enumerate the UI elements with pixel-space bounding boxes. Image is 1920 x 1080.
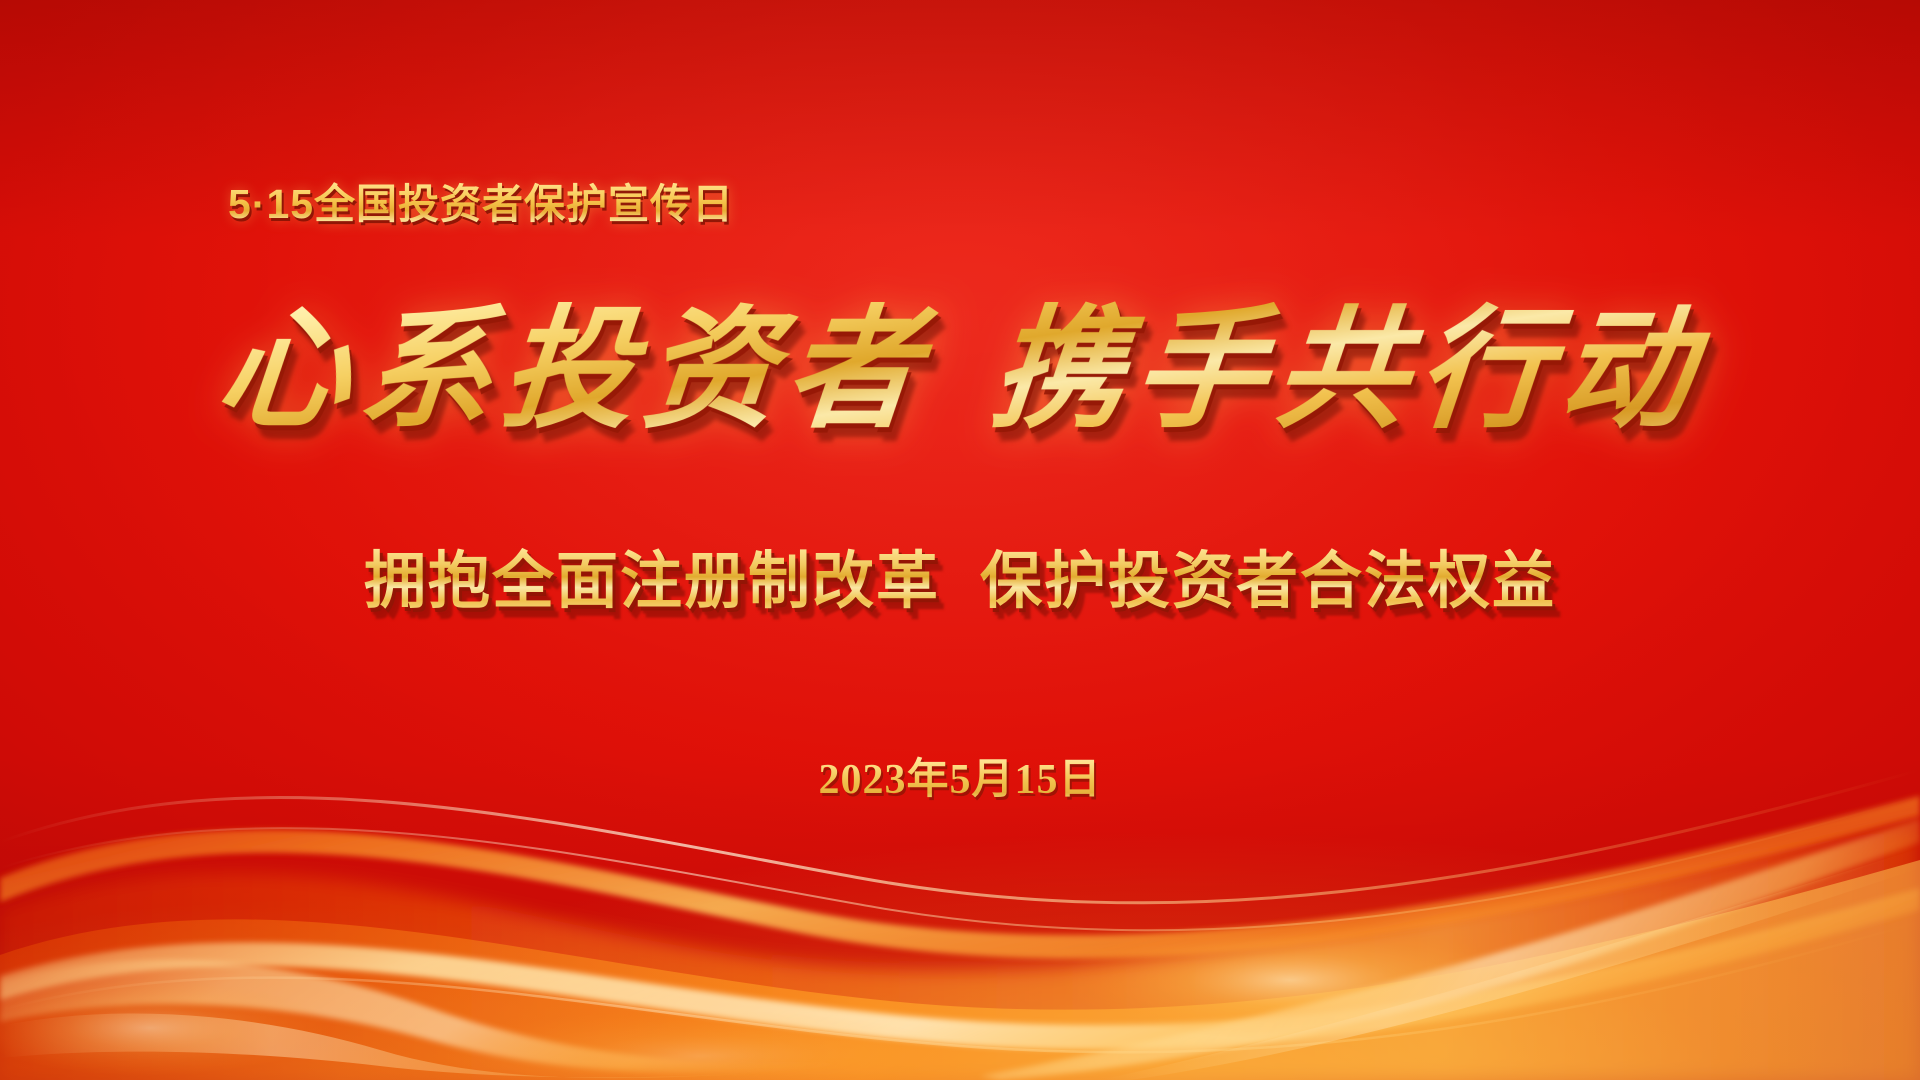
poster-subtitle: 拥抱全面注册制改革保护投资者合法权益	[0, 530, 1920, 620]
subtitle-part-2: 保护投资者合法权益	[980, 547, 1556, 616]
poster-canvas: 5·15全国投资者保护宣传日 心系投资者携手共行动 拥抱全面注册制改革保护投资者…	[0, 0, 1920, 1080]
poster-headline: 心系投资者携手共行动	[0, 300, 1920, 443]
headline-part-2: 携手共行动	[986, 297, 1709, 444]
subtitle-part-1: 拥抱全面注册制改革	[364, 547, 940, 616]
poster-content: 5·15全国投资者保护宣传日 心系投资者携手共行动 拥抱全面注册制改革保护投资者…	[0, 0, 1920, 1080]
poster-date: 2023年5月15日	[0, 745, 1920, 806]
headline-part-1: 心系投资者	[212, 297, 935, 444]
event-eyebrow-text: 5·15全国投资者保护宣传日	[228, 170, 734, 230]
